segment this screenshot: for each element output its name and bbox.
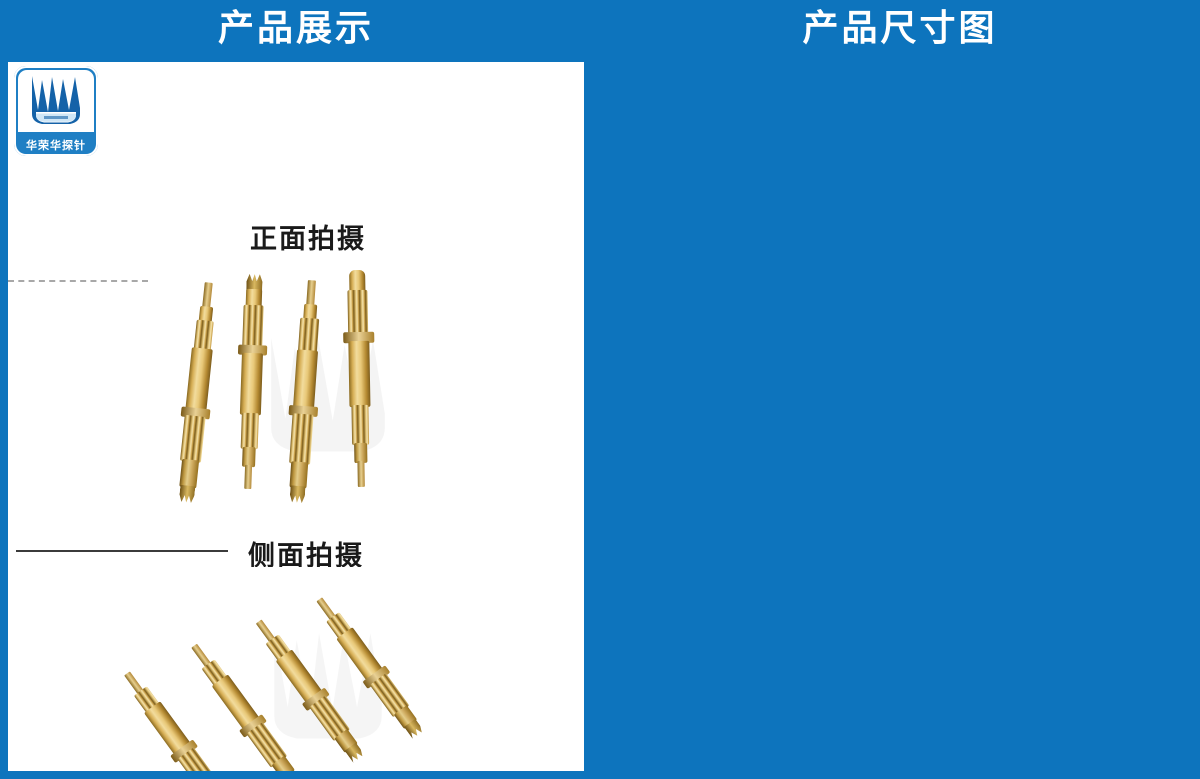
left-panel-title: 产品展示 bbox=[218, 11, 374, 47]
divider-dashed bbox=[8, 280, 148, 282]
brand-logo: 华荣华探针 bbox=[14, 66, 98, 156]
product-display-panel: 产品展示 华荣华探针 正面拍摄 侧面拍摄 bbox=[0, 0, 592, 779]
product-detail-page: 产品展示 华荣华探针 正面拍摄 侧面拍摄 bbox=[0, 0, 1200, 779]
brand-logo-plate bbox=[18, 70, 94, 132]
probe-front-4 bbox=[336, 270, 382, 491]
product-photo-card: 华荣华探针 正面拍摄 侧面拍摄 bbox=[8, 62, 584, 771]
probe-front-2 bbox=[226, 273, 275, 489]
probe-front-1 bbox=[164, 280, 229, 508]
side-view-photo bbox=[148, 567, 478, 771]
left-panel-header: 产品展示 bbox=[0, 0, 592, 57]
probe-front-3 bbox=[275, 279, 333, 509]
section-label-front-view: 正面拍摄 bbox=[250, 217, 366, 256]
crown-logo-icon bbox=[18, 70, 94, 132]
right-panel-title: 产品尺寸图 bbox=[802, 11, 997, 47]
product-dimension-panel: 产品尺寸图 CS900 CS900 .gl{stroke:#19c419;str… bbox=[600, 0, 1200, 779]
front-view-photo bbox=[158, 252, 458, 522]
right-panel-header: 产品尺寸图 bbox=[600, 0, 1200, 57]
divider-solid bbox=[16, 550, 228, 552]
brand-logo-name: 华荣华探针 bbox=[14, 137, 98, 153]
